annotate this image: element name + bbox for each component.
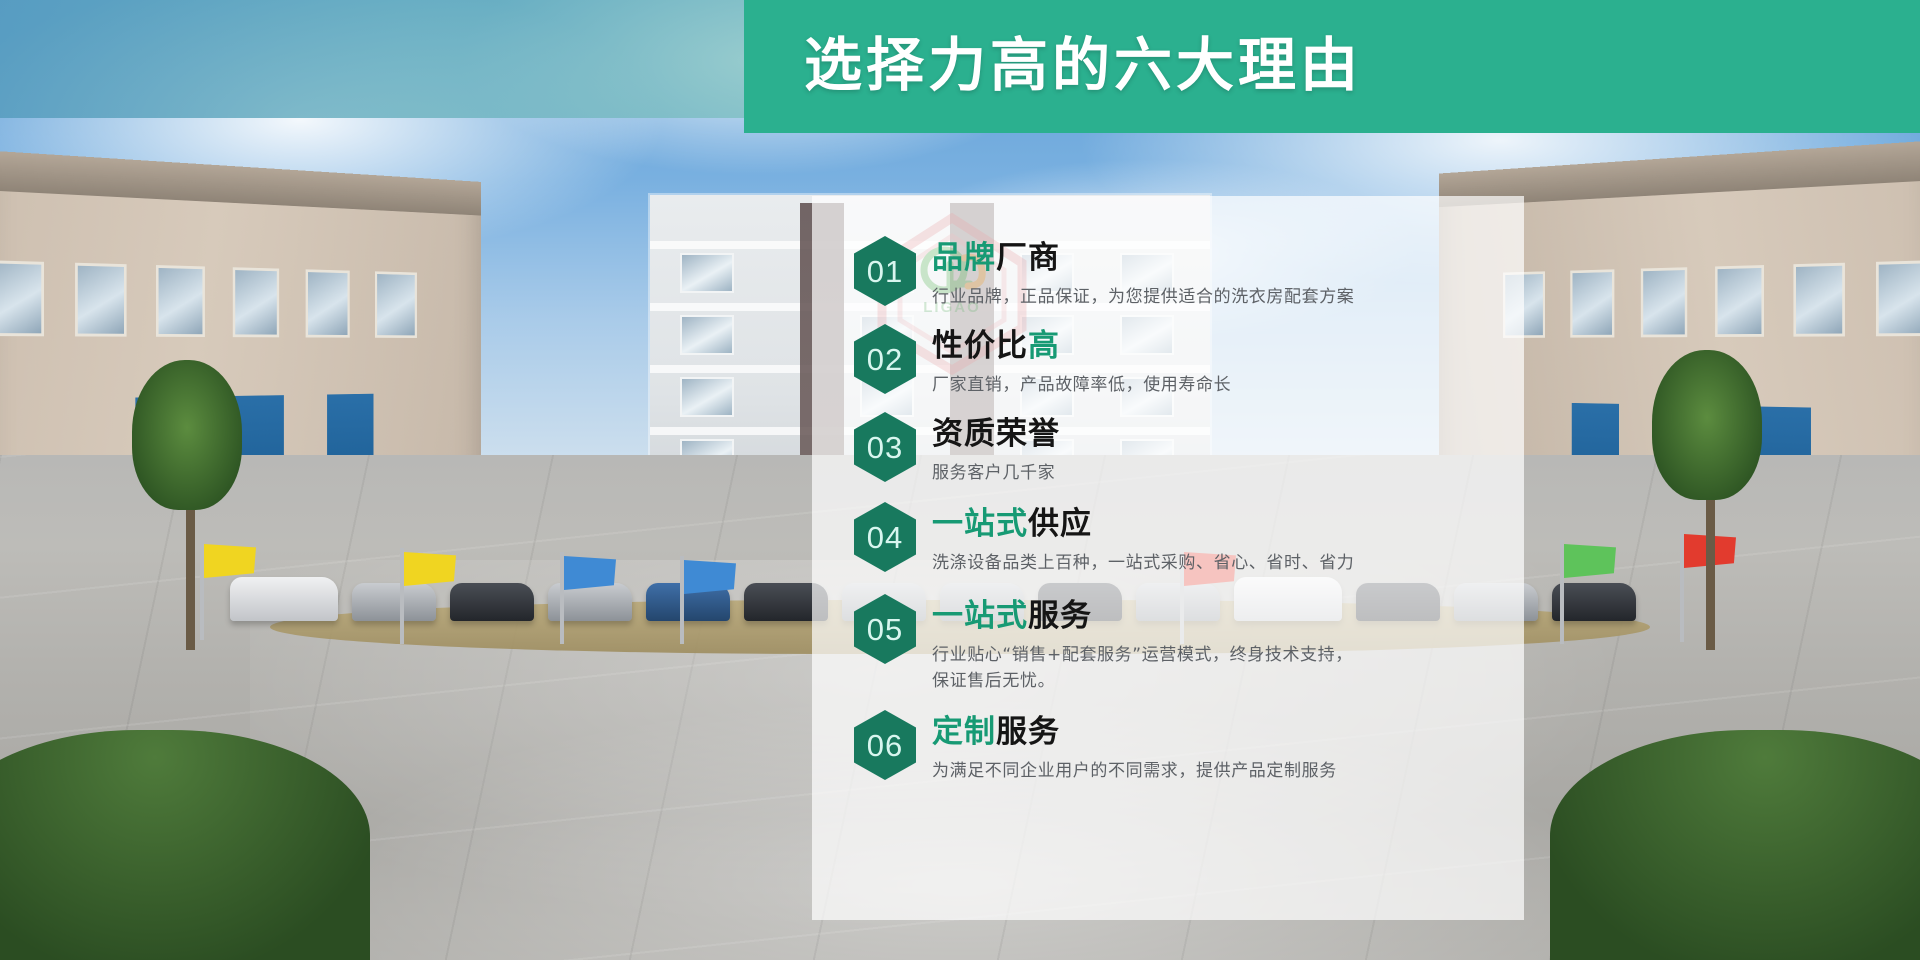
decorative-flag <box>400 548 404 644</box>
reason-number: 04 <box>867 522 903 553</box>
reason-number: 02 <box>867 344 903 375</box>
reason-number-badge: 03 <box>854 412 916 482</box>
page-title: 选择力高的六大理由 <box>804 26 1362 106</box>
reason-title-dark: 资质荣誉 <box>932 416 1060 451</box>
reason-description: 行业贴心“销售+配套服务”运营模式，终身技术支持， 保证售后无忧。 <box>932 642 1498 694</box>
reason-body: 定制服务 为满足不同企业用户的不同需求，提供产品定制服务 <box>932 710 1498 784</box>
reason-number: 01 <box>867 256 903 287</box>
reason-description: 洗涤设备品类上百种，一站式采购、省心、省时、省力 <box>932 550 1498 576</box>
reason-item-05[interactable]: 05 一站式服务 行业贴心“销售+配套服务”运营模式，终身技术支持， 保证售后无… <box>854 594 1498 694</box>
reason-item-02[interactable]: 02 性价比高 厂家直销，产品故障率低，使用寿命长 <box>854 324 1498 398</box>
reason-description: 为满足不同企业用户的不同需求，提供产品定制服务 <box>932 758 1498 784</box>
reason-number-badge: 02 <box>854 324 916 394</box>
reason-title-dark: 性价比 <box>932 328 1028 363</box>
decorative-flag <box>680 556 684 644</box>
reason-title: 性价比高 <box>932 326 1498 366</box>
reason-item-06[interactable]: 06 定制服务 为满足不同企业用户的不同需求，提供产品定制服务 <box>854 710 1498 784</box>
reason-body: 品牌厂商 行业品牌，正品保证，为您提供适合的洗衣房配套方案 <box>932 236 1498 310</box>
foreground-hedge-right <box>1550 730 1920 960</box>
reason-title: 定制服务 <box>932 712 1498 752</box>
banner-left-overlay <box>0 0 744 118</box>
reason-number-badge: 04 <box>854 502 916 572</box>
reason-number-badge: 05 <box>854 594 916 664</box>
reason-title: 一站式服务 <box>932 596 1498 636</box>
reason-item-01[interactable]: 01 品牌厂商 行业品牌，正品保证，为您提供适合的洗衣房配套方案 <box>854 236 1498 310</box>
reason-number-badge: 01 <box>854 236 916 306</box>
reason-item-04[interactable]: 04 一站式供应 洗涤设备品类上百种，一站式采购、省心、省时、省力 <box>854 502 1498 576</box>
tree-foliage <box>1652 350 1762 500</box>
reason-title-dark: 供应 <box>1028 506 1092 541</box>
foreground-hedge-left <box>0 730 370 960</box>
reason-title-green: 品牌 <box>932 240 996 275</box>
reason-title-dark: 服务 <box>996 714 1060 749</box>
reason-body: 性价比高 厂家直销，产品故障率低，使用寿命长 <box>932 324 1498 398</box>
reason-number: 06 <box>867 730 903 761</box>
reasons-list: 01 品牌厂商 行业品牌，正品保证，为您提供适合的洗衣房配套方案 02 性价比高… <box>812 196 1524 920</box>
reason-title-dark: 厂商 <box>996 240 1060 275</box>
reason-title-green: 高 <box>1028 328 1060 363</box>
promo-banner-page: 选择力高的六大理由 LIGAO 01 品牌厂商 行业品牌，正品保证，为您提供适合… <box>0 0 1920 960</box>
reason-title-green: 一站式 <box>932 598 1028 633</box>
reason-title: 资质荣誉 <box>932 414 1498 454</box>
reason-title-green: 一站式 <box>932 506 1028 541</box>
reason-description: 服务客户几千家 <box>932 460 1498 486</box>
tree-foliage <box>132 360 242 510</box>
reason-body: 资质荣誉 服务客户几千家 <box>932 412 1498 486</box>
reason-title: 一站式供应 <box>932 504 1498 544</box>
reason-description: 厂家直销，产品故障率低，使用寿命长 <box>932 372 1498 398</box>
reason-title-dark: 服务 <box>1028 598 1092 633</box>
reasons-panel: LIGAO 01 品牌厂商 行业品牌，正品保证，为您提供适合的洗衣房配套方案 0… <box>812 196 1524 920</box>
reason-title-green: 定制 <box>932 714 996 749</box>
decorative-flag <box>560 552 564 644</box>
reason-description: 行业品牌，正品保证，为您提供适合的洗衣房配套方案 <box>932 284 1498 310</box>
reason-title: 品牌厂商 <box>932 238 1498 278</box>
reason-number-badge: 06 <box>854 710 916 780</box>
reason-body: 一站式服务 行业贴心“销售+配套服务”运营模式，终身技术支持， 保证售后无忧。 <box>932 594 1498 694</box>
reason-item-03[interactable]: 03 资质荣誉 服务客户几千家 <box>854 412 1498 486</box>
decorative-flag <box>1680 530 1684 642</box>
reason-body: 一站式供应 洗涤设备品类上百种，一站式采购、省心、省时、省力 <box>932 502 1498 576</box>
reason-number: 05 <box>867 614 903 645</box>
decorative-flag <box>200 540 204 640</box>
decorative-flag <box>1560 540 1564 644</box>
reason-number: 03 <box>867 432 903 463</box>
